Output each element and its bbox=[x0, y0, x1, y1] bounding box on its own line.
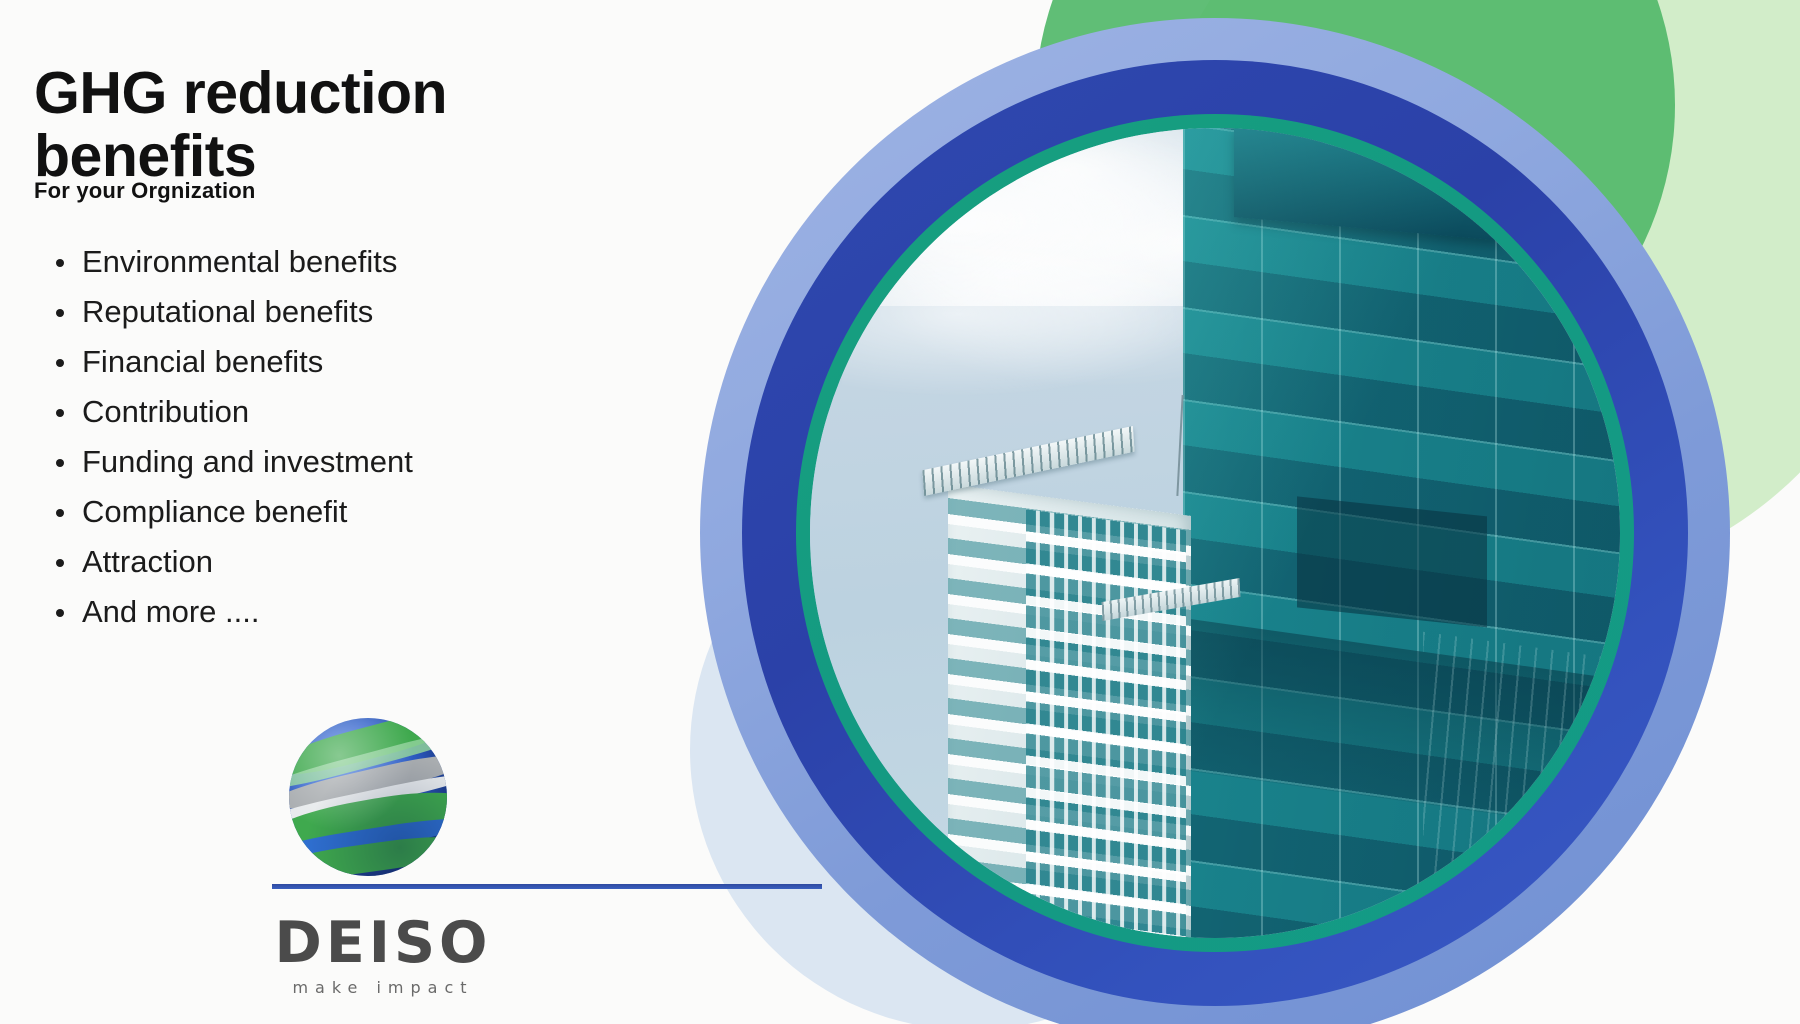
bullet-icon bbox=[56, 459, 64, 467]
page-title: GHG reduction benefits bbox=[34, 62, 634, 189]
photo-facade-sheen bbox=[1183, 128, 1620, 938]
brand-divider-line bbox=[272, 884, 822, 889]
bullet-icon bbox=[56, 409, 64, 417]
list-item-label: And more .... bbox=[82, 594, 259, 629]
photo-tower-windows bbox=[1025, 510, 1185, 938]
list-item: Environmental benefits bbox=[82, 246, 722, 296]
globe-gloss-overlay bbox=[289, 718, 447, 876]
list-item: Contribution bbox=[82, 396, 722, 446]
page-subtitle: For your Orgnization bbox=[34, 178, 256, 204]
bullet-icon bbox=[56, 359, 64, 367]
list-item-label: Reputational benefits bbox=[82, 294, 373, 329]
photo-white-tower bbox=[948, 484, 1191, 938]
list-item-label: Environmental benefits bbox=[82, 244, 397, 279]
list-item: Financial benefits bbox=[82, 346, 722, 396]
list-item-label: Financial benefits bbox=[82, 344, 323, 379]
bullet-icon bbox=[56, 509, 64, 517]
slide-canvas: GHG reduction benefits For your Orgnizat… bbox=[0, 0, 1800, 1024]
globe-icon bbox=[289, 718, 447, 876]
bullet-icon bbox=[56, 309, 64, 317]
hero-building-photo bbox=[810, 128, 1620, 938]
bullet-icon bbox=[56, 559, 64, 567]
brand-wordmark: DEISO bbox=[268, 910, 498, 976]
benefits-list: Environmental benefits Reputational bene… bbox=[46, 246, 722, 646]
list-item: Compliance benefit bbox=[82, 496, 722, 546]
hero-ring-graphic bbox=[700, 18, 1730, 1024]
list-item: And more .... bbox=[82, 596, 722, 646]
photo-clouds-lower bbox=[842, 225, 1231, 403]
list-item: Reputational benefits bbox=[82, 296, 722, 346]
bullet-icon bbox=[56, 259, 64, 267]
photo-glass-facade bbox=[1183, 128, 1620, 938]
list-item-label: Funding and investment bbox=[82, 444, 413, 479]
list-item: Attraction bbox=[82, 546, 722, 596]
list-item: Funding and investment bbox=[82, 446, 722, 496]
bullet-icon bbox=[56, 609, 64, 617]
list-item-label: Compliance benefit bbox=[82, 494, 347, 529]
brand-tagline: make impact bbox=[268, 978, 498, 997]
list-item-label: Attraction bbox=[82, 544, 213, 579]
list-item-label: Contribution bbox=[82, 394, 249, 429]
brand-logo bbox=[268, 718, 468, 876]
